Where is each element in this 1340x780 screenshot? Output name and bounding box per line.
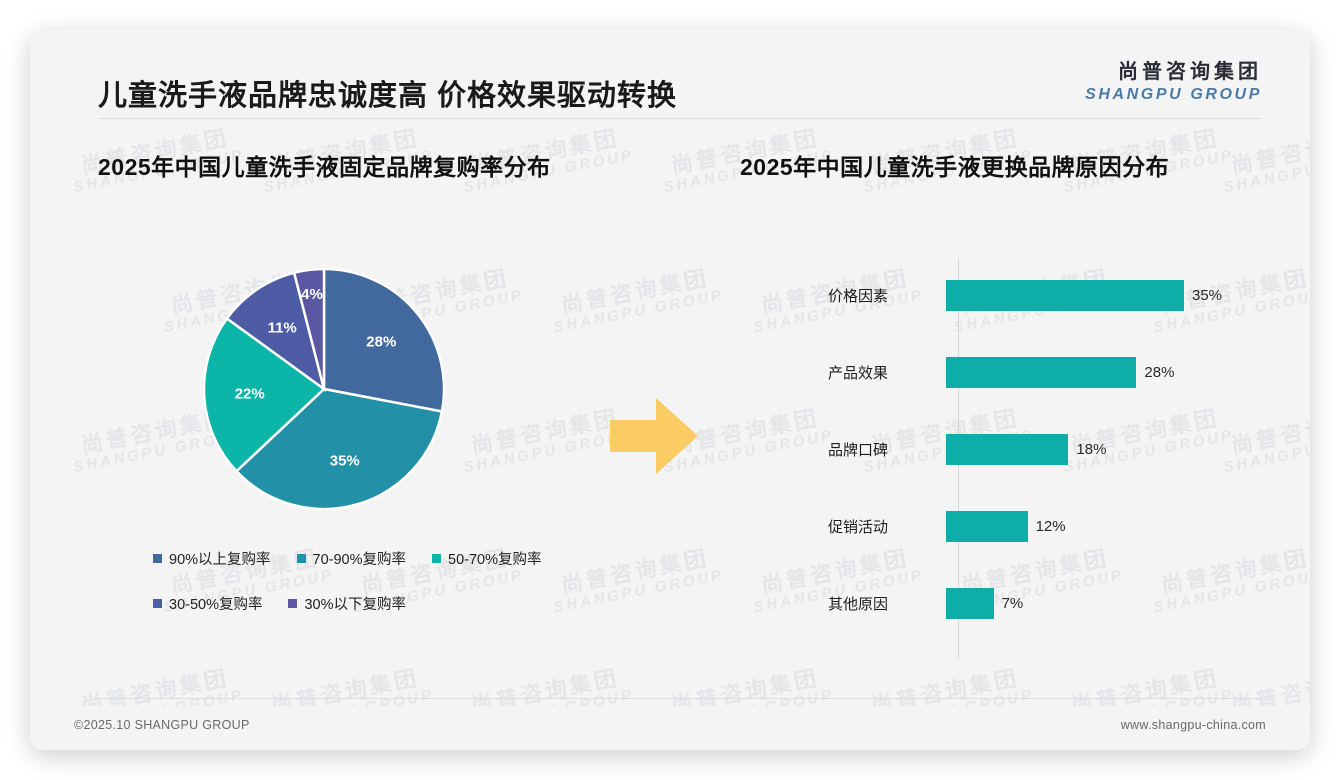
legend-label: 30-50%复购率	[169, 593, 262, 614]
bar-category-label: 其他原因	[740, 593, 946, 614]
bar-track: 12%	[946, 506, 1270, 546]
legend-label: 50-70%复购率	[448, 548, 541, 569]
watermark-text: 尚普咨询集团SHANGPU GROUP	[1308, 544, 1310, 616]
legend-swatch-icon	[153, 599, 162, 608]
legend-label: 30%以下复购率	[304, 593, 406, 614]
header-divider	[98, 118, 1262, 119]
page-title: 儿童洗手液品牌忠诚度高 价格效果驱动转换	[98, 72, 677, 114]
legend-label: 90%以上复购率	[169, 548, 271, 569]
pie-slice-label: 35%	[330, 452, 360, 469]
logo-chinese-text: 尚普咨询集团	[1085, 60, 1262, 85]
legend-swatch-icon	[432, 554, 441, 563]
slide: 尚普咨询集团SHANGPU GROUP尚普咨询集团SHANGPU GROUP尚普…	[30, 30, 1310, 750]
legend-swatch-icon	[288, 599, 297, 608]
footer-copyright: ©2025.10 SHANGPU GROUP	[74, 718, 250, 732]
bar-row: 品牌口碑18%	[740, 429, 1270, 469]
bar-value-label: 12%	[1036, 518, 1066, 535]
bar-track: 18%	[946, 429, 1270, 469]
bar-track: 35%	[946, 275, 1270, 315]
bar-category-label: 价格因素	[740, 285, 946, 306]
pie-chart: 28%35%22%11%4%	[203, 268, 445, 510]
bar-value-label: 18%	[1076, 441, 1106, 458]
logo-english-text: SHANGPU GROUP	[1085, 85, 1262, 104]
legend-item[interactable]: 50-70%复购率	[432, 548, 541, 569]
legend-item[interactable]: 90%以上复购率	[153, 548, 271, 569]
slide-header: 儿童洗手液品牌忠诚度高 价格效果驱动转换 尚普咨询集团 SHANGPU GROU…	[30, 30, 1310, 120]
bar-row: 价格因素35%	[740, 275, 1270, 315]
legend-label: 70-90%复购率	[313, 548, 406, 569]
slide-footer: ©2025.10 SHANGPU GROUP www.shangpu-china…	[30, 706, 1310, 750]
legend-item[interactable]: 30-50%复购率	[153, 593, 262, 614]
pie-legend: 90%以上复购率70-90%复购率50-70%复购率30-50%复购率30%以下…	[153, 548, 653, 638]
bar-category-label: 产品效果	[740, 362, 946, 383]
pie-chart-title: 2025年中国儿童洗手液固定品牌复购率分布	[98, 148, 698, 182]
bar-row: 其他原因7%	[740, 583, 1270, 623]
bar-fill[interactable]	[946, 588, 994, 619]
bar-chart-title: 2025年中国儿童洗手液更换品牌原因分布	[740, 148, 1270, 182]
bar-category-label: 品牌口碑	[740, 439, 946, 460]
bar-chart: 价格因素35%产品效果28%品牌口碑18%促销活动12%其他原因7%	[740, 258, 1270, 658]
bar-value-label: 28%	[1144, 364, 1174, 381]
legend-swatch-icon	[297, 554, 306, 563]
bar-fill[interactable]	[946, 511, 1028, 542]
pie-slice-label: 4%	[301, 286, 323, 303]
bar-category-label: 促销活动	[740, 516, 946, 537]
bar-row: 促销活动12%	[740, 506, 1270, 546]
bar-fill[interactable]	[946, 357, 1136, 388]
legend-item[interactable]: 70-90%复购率	[297, 548, 406, 569]
pie-slice-label: 22%	[235, 386, 265, 403]
watermark-text: 尚普咨询集团SHANGPU GROUP	[1308, 264, 1310, 336]
bar-fill[interactable]	[946, 434, 1068, 465]
pie-slice-label: 28%	[366, 334, 396, 351]
bar-track: 28%	[946, 352, 1270, 392]
legend-row: 30-50%复购率30%以下复购率	[153, 593, 653, 614]
footer-website: www.shangpu-china.com	[1121, 718, 1266, 732]
legend-item[interactable]: 30%以下复购率	[288, 593, 406, 614]
footnote-divider	[98, 698, 1262, 699]
bar-fill[interactable]	[946, 280, 1184, 311]
bar-value-label: 7%	[1002, 595, 1024, 612]
legend-row: 90%以上复购率70-90%复购率50-70%复购率	[153, 548, 653, 569]
pie-slice-label: 11%	[268, 319, 297, 336]
right-arrow-icon	[608, 392, 700, 480]
bar-row: 产品效果28%	[740, 352, 1270, 392]
bar-chart-panel: 2025年中国儿童洗手液更换品牌原因分布 价格因素35%产品效果28%品牌口碑1…	[740, 148, 1270, 668]
bar-value-label: 35%	[1192, 287, 1222, 304]
bar-track: 7%	[946, 583, 1270, 623]
legend-swatch-icon	[153, 554, 162, 563]
company-logo: 尚普咨询集团 SHANGPU GROUP	[1085, 60, 1262, 104]
